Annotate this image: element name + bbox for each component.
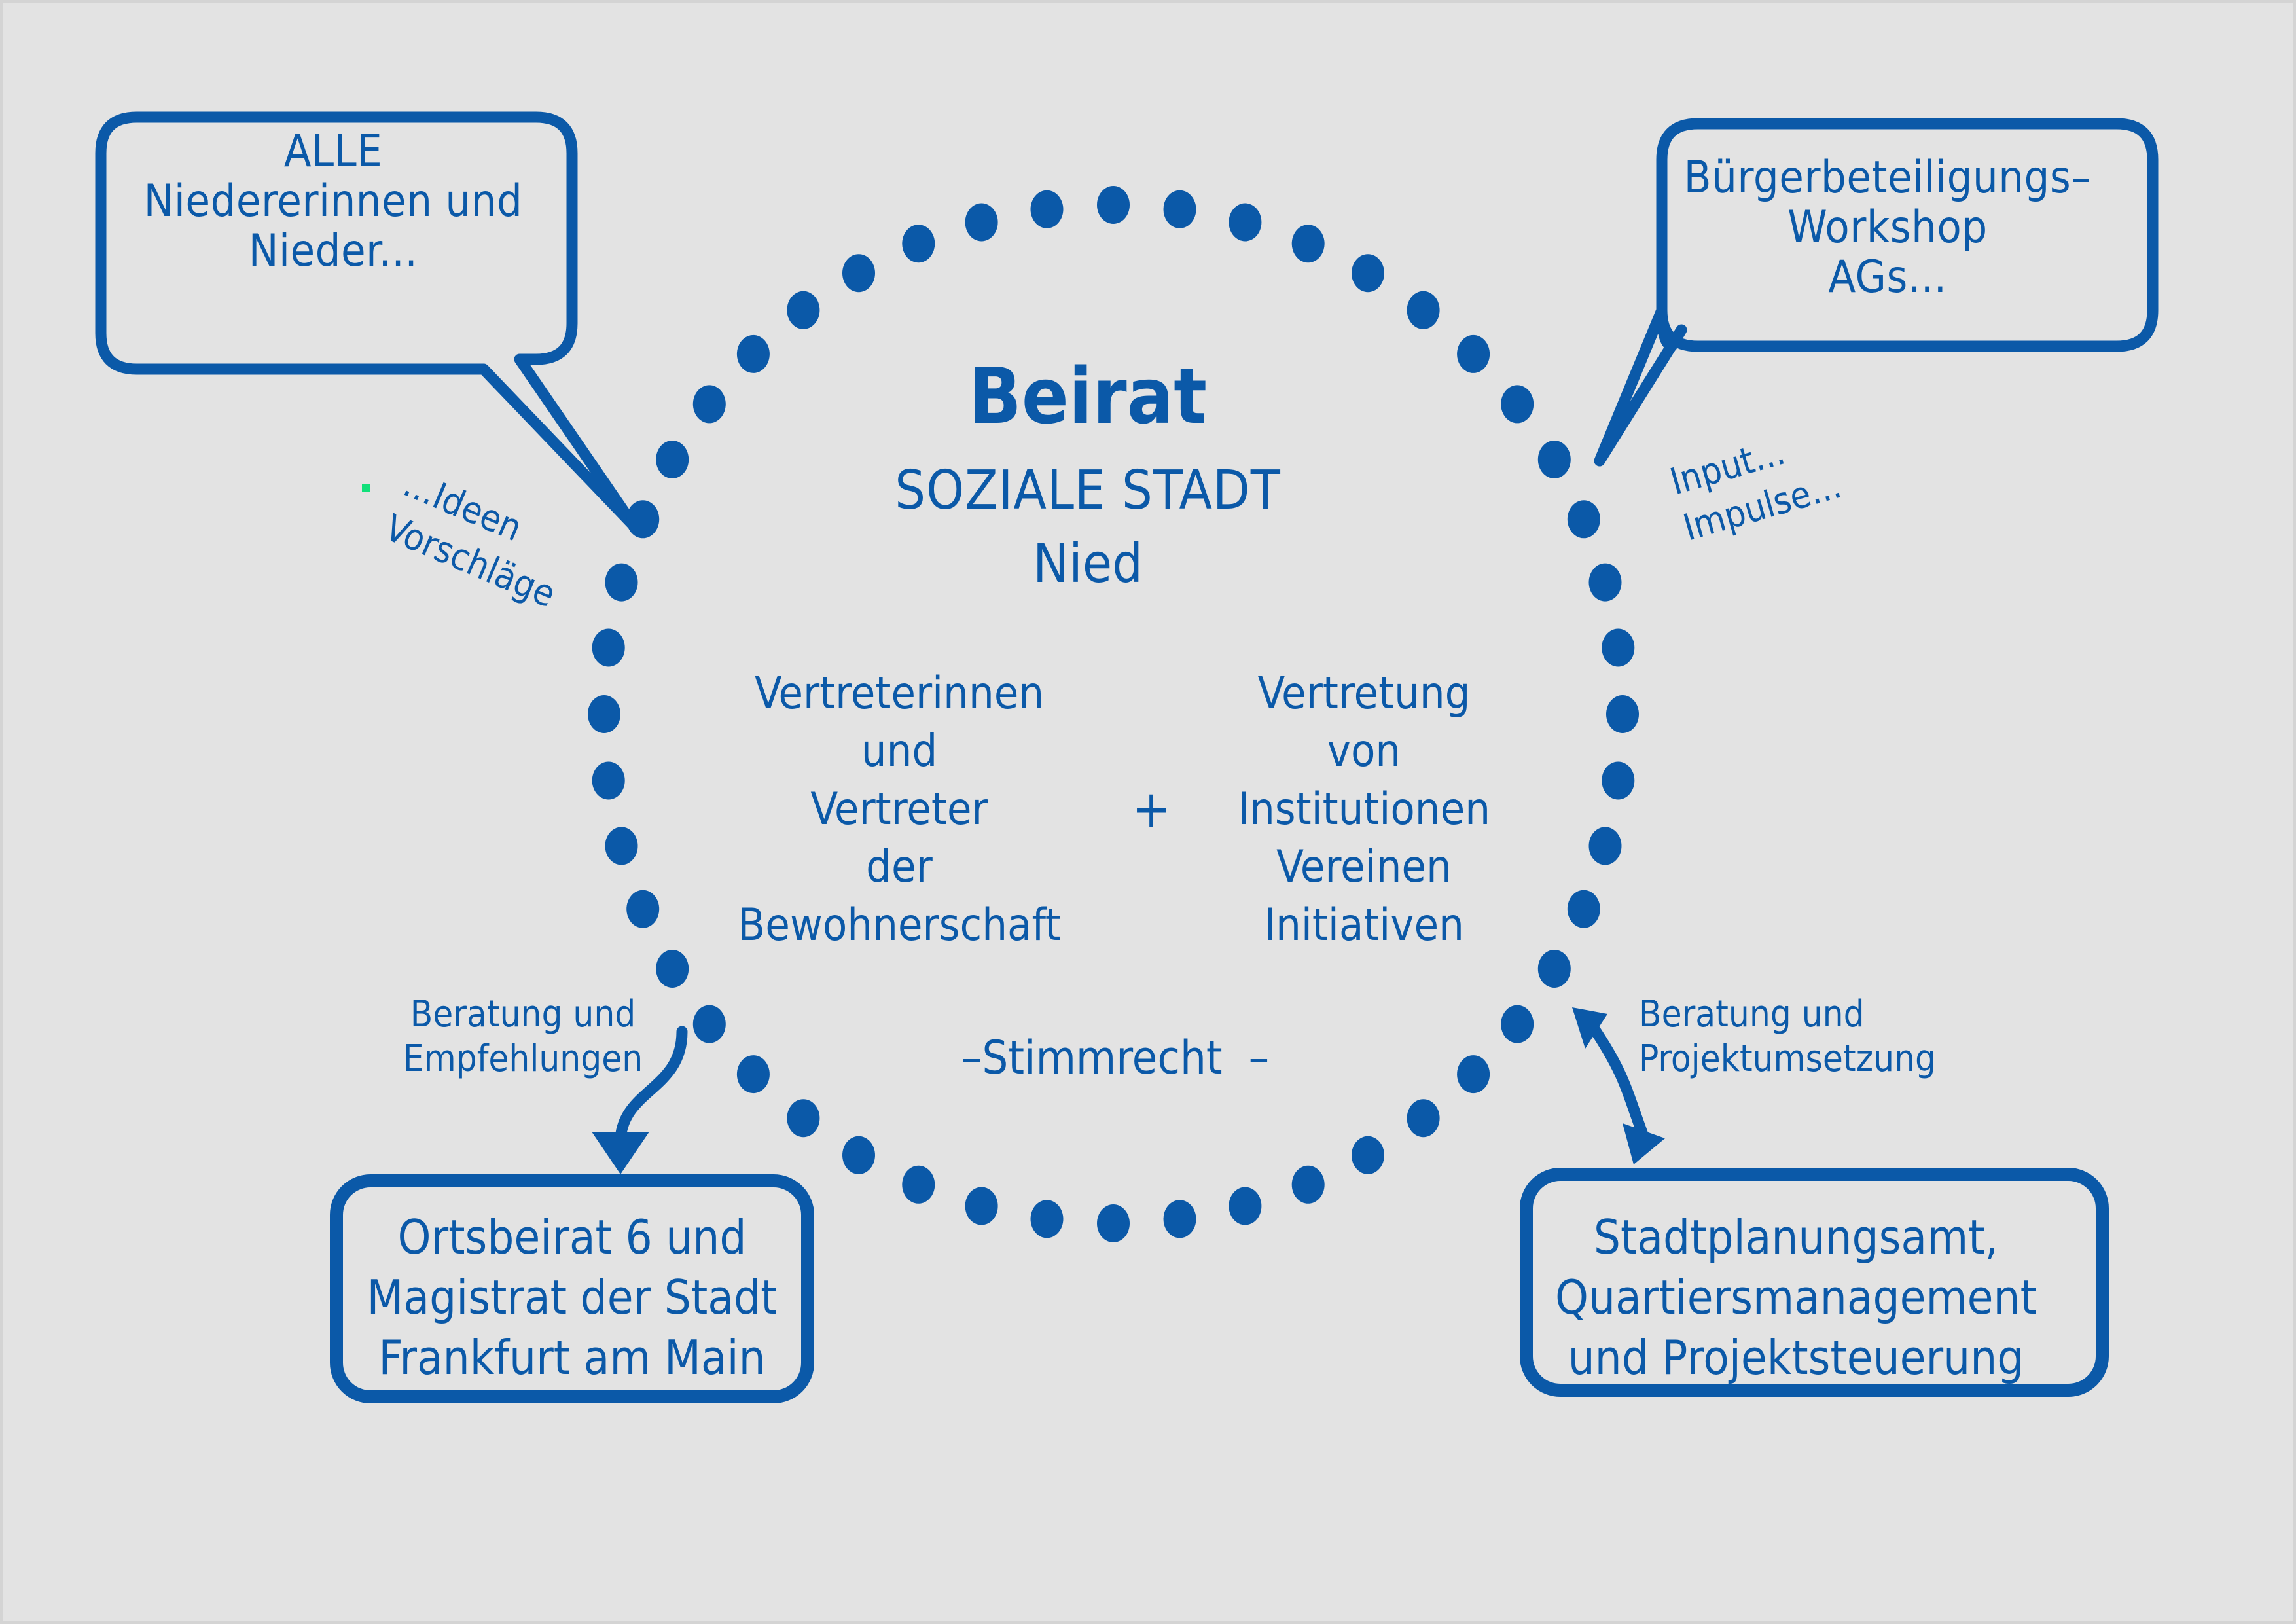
circle-dot	[1602, 762, 1634, 800]
circle-dot	[656, 441, 689, 478]
circle-dot	[1229, 1187, 1261, 1225]
beirat-subtitle-line1: SOZIALE STADT	[793, 461, 1382, 521]
circle-dot	[1501, 1005, 1534, 1043]
circle-dot	[1407, 1099, 1440, 1137]
circle-dot	[1164, 1200, 1196, 1238]
circle-dot	[1352, 254, 1384, 292]
circle-dot	[1097, 1204, 1130, 1242]
circle-dot	[1229, 204, 1261, 242]
circle-dot	[1031, 190, 1064, 228]
box-ortsbeirat-label: Ortsbeirat 6 und Magistrat der Stadt Fra…	[343, 1207, 801, 1388]
circle-dot	[1568, 890, 1600, 928]
beirat-right-column: Vertretung von Institutionen Vereinen In…	[1200, 665, 1528, 954]
circle-dot	[737, 335, 770, 373]
circle-dot	[1097, 186, 1130, 224]
circle-dot	[1352, 1136, 1384, 1174]
circle-dot	[902, 1166, 935, 1204]
circle-dot	[588, 695, 620, 733]
circle-dot	[1457, 335, 1490, 373]
circle-dot	[1292, 1166, 1325, 1204]
diagram-canvas: ALLE Niedererinnen und Nieder... Bürgerb…	[0, 0, 2296, 1624]
beirat-subtitle-line2: Nied	[793, 534, 1382, 594]
circle-dot	[842, 254, 875, 292]
circle-dot	[1407, 291, 1440, 329]
circle-dot	[1602, 629, 1634, 667]
circle-dot	[842, 1136, 875, 1174]
circle-dot	[656, 950, 689, 988]
circle-dot	[1164, 190, 1196, 228]
circle-dot	[592, 762, 625, 800]
arrow-beratung-projektumsetzung-shaft	[1593, 1027, 1645, 1142]
circle-dot	[787, 291, 819, 329]
box-stadtplanungsamt-label: Stadtplanungsamt, Quartiersmanagement un…	[1534, 1207, 2058, 1388]
circle-dot	[693, 385, 726, 423]
circle-dot	[626, 890, 659, 928]
stimmrecht-note: –Stimmrecht –	[906, 1032, 1325, 1083]
circle-dot	[965, 204, 998, 242]
circle-dot	[1031, 1200, 1064, 1238]
circle-dot	[1457, 1055, 1490, 1093]
circle-dot	[1501, 385, 1534, 423]
circle-dot	[787, 1099, 819, 1137]
circle-dot	[1568, 500, 1600, 538]
circle-dot	[1538, 441, 1571, 478]
circle-dot	[1292, 225, 1325, 262]
speech-bubble-alle-label: ALLE Niedererinnen und Nieder...	[101, 127, 565, 276]
circle-dot	[693, 1005, 726, 1043]
annotation-beratung-empfehlungen: Beratung und Empfehlungen	[369, 992, 677, 1082]
circle-dot	[1589, 827, 1622, 865]
annotation-beratung-projektumsetzung: Beratung und Projektumsetzung	[1639, 992, 1979, 1082]
page-title: Beirat	[793, 353, 1382, 439]
circle-dot	[737, 1055, 770, 1093]
circle-dot	[1538, 950, 1571, 988]
circle-dot	[965, 1187, 998, 1225]
green-dot-artifact	[362, 484, 370, 492]
circle-dot	[902, 225, 935, 262]
circle-dot	[1589, 564, 1622, 602]
speech-bubble-buerger-label: Bürgerbeteiligungs– Workshop AGs...	[1659, 153, 2117, 302]
beirat-left-column: Vertreterinnen und Vertreter der Bewohne…	[696, 665, 1102, 954]
circle-dot	[605, 827, 638, 865]
circle-dot	[626, 500, 659, 538]
arrow-beratung-empfehlungen-head	[592, 1132, 649, 1174]
circle-dot	[1606, 695, 1639, 733]
plus-sign-icon: +	[1102, 782, 1200, 839]
